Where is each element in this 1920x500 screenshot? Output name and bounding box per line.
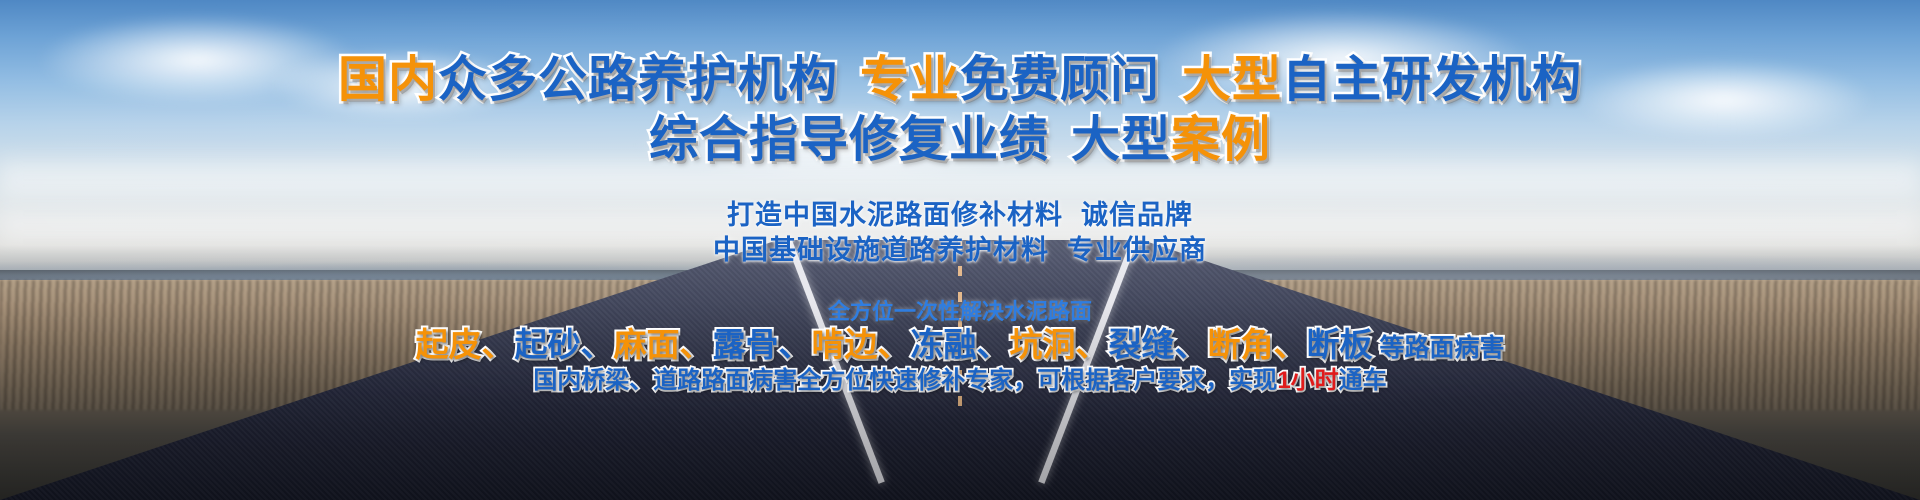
defect-qipi: 起皮、 — [416, 326, 515, 363]
headline-seg-zonghe: 综合指导修复业绩 — [649, 113, 1049, 167]
headline-seg-zhongduo: 众多公路养护机构 — [438, 53, 838, 107]
headline-seg-anli: 案例 — [1171, 113, 1271, 167]
banner-content: 国内众多公路养护机构专业免费顾问大型自主研发机构 综合指导修复业绩大型案例 打造… — [0, 0, 1920, 500]
road-text-line-2: 起皮、起砂、麻面、露骨、啃边、冻融、坑洞、裂缝、断角、断板 等路面病害 — [0, 318, 1920, 366]
promotional-banner: 国内众多公路养护机构专业免费顾问大型自主研发机构 综合指导修复业绩大型案例 打造… — [0, 0, 1920, 500]
defect-kenbian: 啃边、 — [812, 326, 911, 363]
headline-seg-mianfei: 免费顾问 — [960, 53, 1160, 107]
defect-duanban: 断板 — [1307, 326, 1373, 363]
defect-mamian: 麻面、 — [614, 326, 713, 363]
defect-dongrong: 冻融、 — [911, 326, 1010, 363]
subheadline-1b: 诚信品牌 — [1081, 200, 1193, 230]
defect-suffix: 等路面病害 — [1373, 334, 1505, 362]
defect-lougu: 露骨、 — [713, 326, 812, 363]
guarantee-text-suffix: 通车 — [1339, 367, 1387, 394]
defect-kengdong: 坑洞、 — [1010, 326, 1109, 363]
defect-liefeng: 裂缝、 — [1109, 326, 1208, 363]
headline-seg-daxing2: 大型 — [1071, 113, 1171, 167]
defect-duanjiao: 断角、 — [1208, 326, 1307, 363]
subheadline-line-1: 打造中国水泥路面修补材料诚信品牌 — [0, 193, 1920, 232]
guarantee-time-highlight: 1小时 — [1277, 367, 1338, 394]
road-text-line-3: 国内桥梁、道路路面病害全方位快速修补专家，可根据客户要求，实现1小时通车 — [0, 360, 1920, 395]
headline-seg-zizhu: 自主研发机构 — [1282, 53, 1582, 107]
headline-seg-daxing: 大型 — [1182, 53, 1282, 107]
headline-seg-zhuanye: 专业 — [860, 53, 960, 107]
subheadline-line-2: 中国基础设施道路养护材料专业供应商 — [0, 228, 1920, 267]
headline-seg-guonei: 国内 — [338, 53, 438, 107]
subheadline-2b: 专业供应商 — [1067, 235, 1207, 265]
subheadline-2a: 中国基础设施道路养护材料 — [713, 235, 1049, 265]
guarantee-text-prefix: 国内桥梁、道路路面病害全方位快速修补专家，可根据客户要求，实现 — [533, 367, 1277, 394]
subheadline-1a: 打造中国水泥路面修补材料 — [727, 200, 1063, 230]
defect-qisha: 起砂、 — [515, 326, 614, 363]
headline-line-2: 综合指导修复业绩大型案例 — [0, 100, 1920, 171]
